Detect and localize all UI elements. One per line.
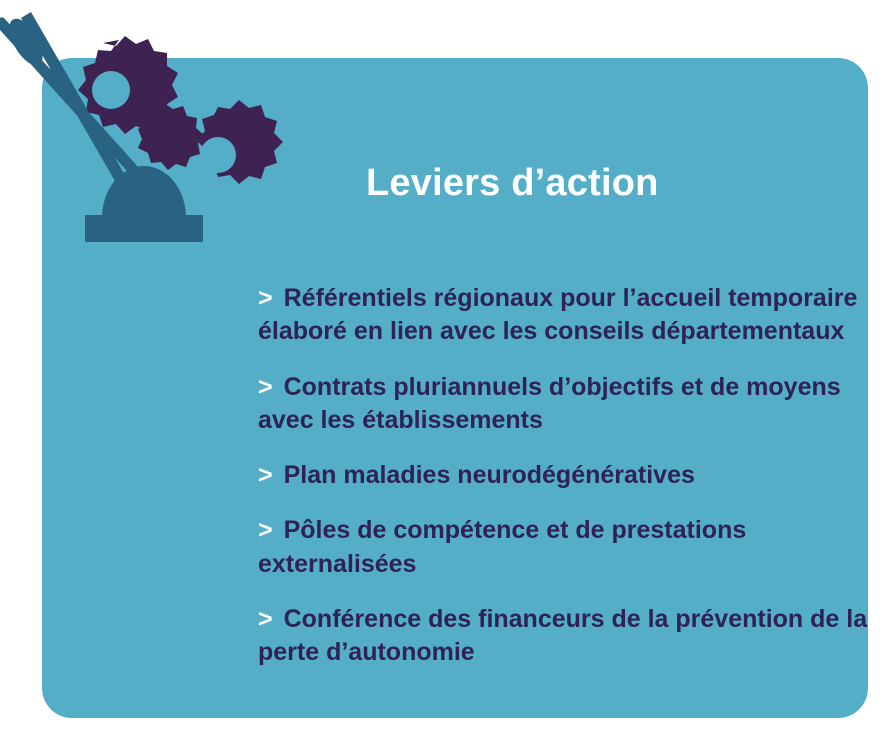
list-item: >Référentiels régionaux pour l’accueil t… — [258, 282, 886, 349]
bullet-list: >Référentiels régionaux pour l’accueil t… — [258, 282, 886, 669]
lever-handle-grip — [3, 13, 50, 70]
list-item-label: Pôles de compétence et de prestations ex… — [258, 516, 746, 577]
list-item: >Pôles de compétence et de prestations e… — [258, 514, 886, 581]
list-item: >Conférence des financeurs de la prévent… — [258, 603, 886, 670]
page-title: Leviers d’action — [366, 162, 659, 205]
slide-canvas: Leviers d’action >Référentiels régionaux… — [0, 0, 886, 738]
list-item-label: Contrats pluriannuels d’objectifs et de … — [258, 373, 841, 434]
list-item-label: Plan maladies neurodégénératives — [284, 461, 695, 489]
chevron-right-icon: > — [258, 516, 273, 544]
chevron-right-icon: > — [258, 284, 273, 312]
chevron-right-icon: > — [258, 373, 273, 401]
list-item: >Contrats pluriannuels d’objectifs et de… — [258, 371, 886, 438]
list-item-label: Conférence des financeurs de la préventi… — [258, 605, 867, 666]
chevron-right-icon: > — [258, 461, 273, 489]
list-item-label: Référentiels régionaux pour l’accueil te… — [258, 284, 857, 345]
chevron-right-icon: > — [258, 605, 273, 633]
leviers-action-card: Leviers d’action >Référentiels régionaux… — [42, 58, 868, 718]
list-item: >Plan maladies neurodégénératives — [258, 459, 886, 492]
